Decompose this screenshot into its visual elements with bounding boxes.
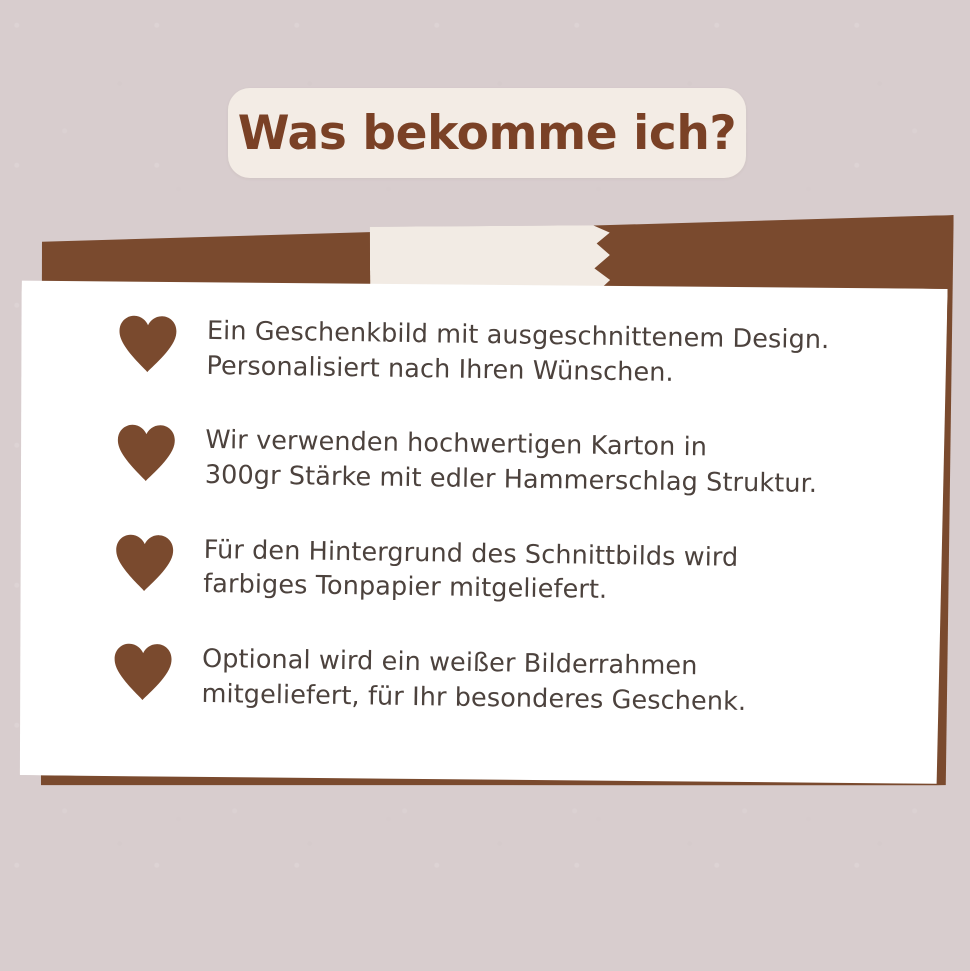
list-item-line: farbiges Tonpapier mitgeliefert. [203,567,903,612]
list-item-line: Optional wird ein weißer Bilderrahmen [202,644,698,681]
list-item-line: Für den Hintergrund des Schnittbilds wir… [203,535,738,573]
list-item-text: Optional wird ein weißer Bilderrahmen mi… [177,640,902,722]
page-title-badge: Was bekomme ich? [228,88,746,178]
list-item: Optional wird ein weißer Bilderrahmen mi… [111,639,902,722]
list-item-line: Wir verwenden hochwertigen Karton in [205,425,707,462]
list-item: Für den Hintergrund des Schnittbilds wir… [113,529,904,612]
list-item: Ein Geschenkbild mit ausgeschnittenem De… [116,311,907,394]
list-item-text: Wir verwenden hochwertigen Karton in 300… [181,421,906,503]
list-item-line: 300gr Stärke mit edler Hammerschlag Stru… [205,458,905,503]
list-item: Wir verwenden hochwertigen Karton in 300… [115,420,906,503]
page-title: Was bekomme ich? [238,110,737,157]
heart-icon [116,311,183,374]
list-item-text: Ein Geschenkbild mit ausgeschnittenem De… [182,312,907,394]
heart-icon [111,639,178,702]
list-item-text: Für den Hintergrund des Schnittbilds wir… [179,530,904,612]
benefits-list: Ein Geschenkbild mit ausgeschnittenem De… [14,275,947,789]
heart-icon [113,529,180,592]
list-item-line: mitgeliefert, für Ihr besonderes Geschen… [201,677,901,722]
list-item-line: Personalisiert nach Ihren Wünschen. [206,349,906,394]
list-item-line: Ein Geschenkbild mit ausgeschnittenem De… [207,316,830,355]
poster-canvas: Was bekomme ich? Ein Geschenkbild mit au… [0,0,970,971]
white-card: Ein Geschenkbild mit ausgeschnittenem De… [14,275,947,789]
heart-icon [115,420,182,483]
